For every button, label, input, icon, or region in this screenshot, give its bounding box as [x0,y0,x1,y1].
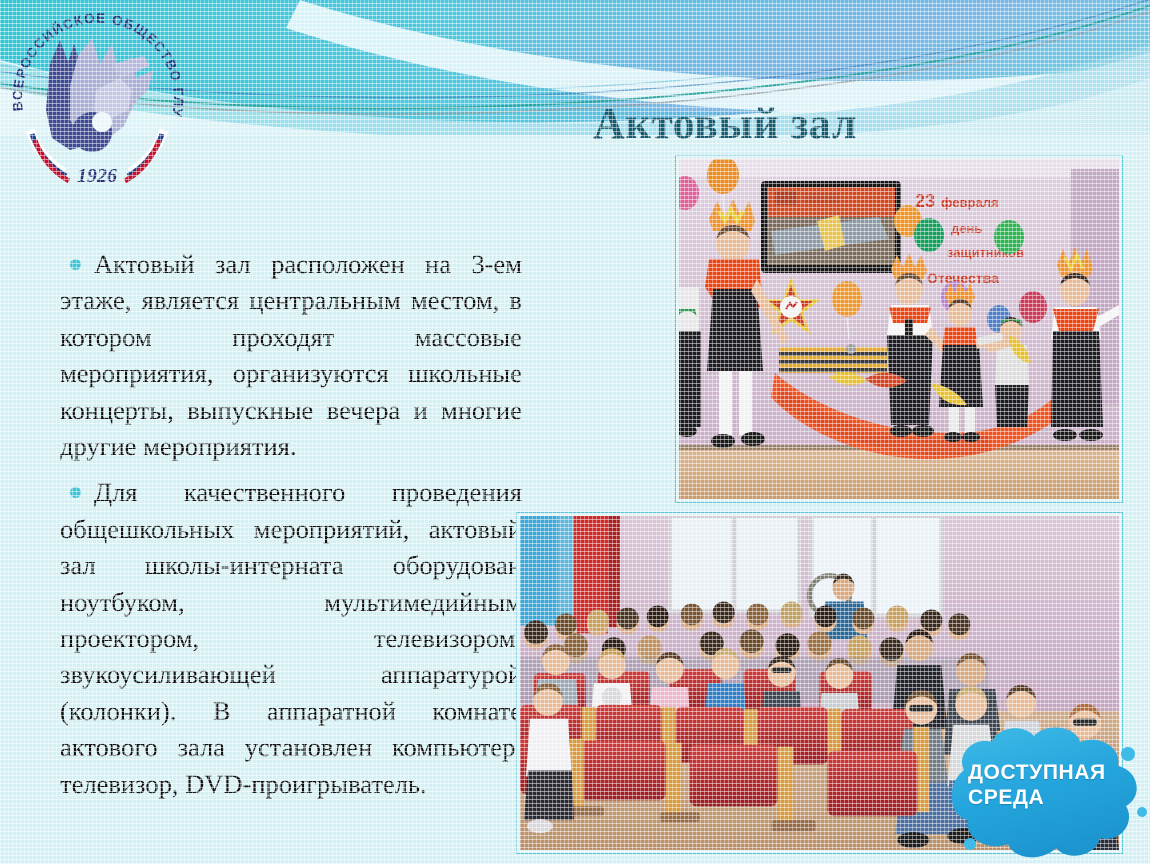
child-edge-left [679,287,701,437]
wall-tv [761,181,901,273]
accessible-environment-badge: ДОСТУПНАЯ СРЕДА [930,718,1150,864]
bullet-paragraph-2: Для качественного проведения общешкольны… [60,474,522,802]
photo-children-performance: 23 февраля день защитников Отечества [676,156,1122,502]
bullet-dot-icon [70,487,81,498]
slide-canvas: ВСЕРОССИЙСКОЕ ОБЩЕСТВО ГЛУХИХ 1926 Актов… [0,0,1150,864]
vog-emblem-logo: ВСЕРОССИЙСКОЕ ОБЩЕСТВО ГЛУХИХ 1926 [8,4,186,200]
svg-text:23: 23 [915,191,935,211]
logo-year: 1926 [77,165,117,187]
st-george-ribbon [779,344,887,373]
paragraph-2-text: Для качественного проведения общешкольны… [60,477,522,798]
svg-text:Отечества: Отечества [927,270,999,286]
bullet-paragraph-1: Актовый зал расположен на 3-ем этаже, яв… [60,246,522,464]
badge-text-block: ДОСТУПНАЯ СРЕДА [968,760,1118,810]
page-title: Актовый зал [340,98,1110,150]
svg-text:февраля: февраля [941,195,998,210]
paragraph-1-text: Актовый зал расположен на 3-ем этаже, яв… [60,249,522,461]
bullet-dot-icon [70,259,81,270]
badge-line-1: ДОСТУПНАЯ [968,761,1106,784]
hand-shapes [46,38,154,152]
badge-line-2: СРЕДА [968,785,1118,810]
svg-text:день: день [951,221,982,236]
body-text-column: Актовый зал расположен на 3-ем этаже, яв… [60,246,522,802]
